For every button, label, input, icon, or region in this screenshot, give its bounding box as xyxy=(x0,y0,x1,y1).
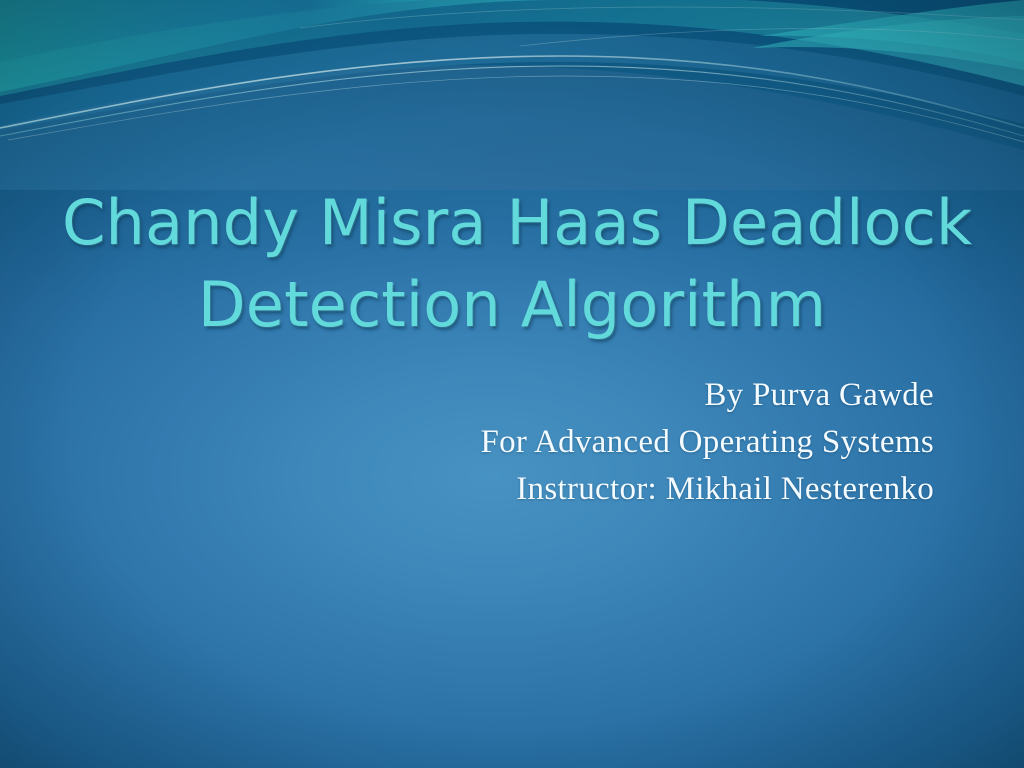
title-line-1: Chandy Misra Haas Deadlock xyxy=(62,182,962,264)
slide-title: Chandy Misra Haas Deadlock Detection Alg… xyxy=(62,182,962,346)
slide-subtitle: By Purva Gawde For Advanced Operating Sy… xyxy=(300,372,934,513)
title-line-2: Detection Algorithm xyxy=(62,264,962,346)
subtitle-line-author: By Purva Gawde xyxy=(300,372,934,419)
subtitle-line-course: For Advanced Operating Systems xyxy=(300,419,934,466)
subtitle-line-instructor: Instructor: Mikhail Nesterenko xyxy=(300,466,934,513)
presentation-slide: Chandy Misra Haas Deadlock Detection Alg… xyxy=(0,0,1024,768)
